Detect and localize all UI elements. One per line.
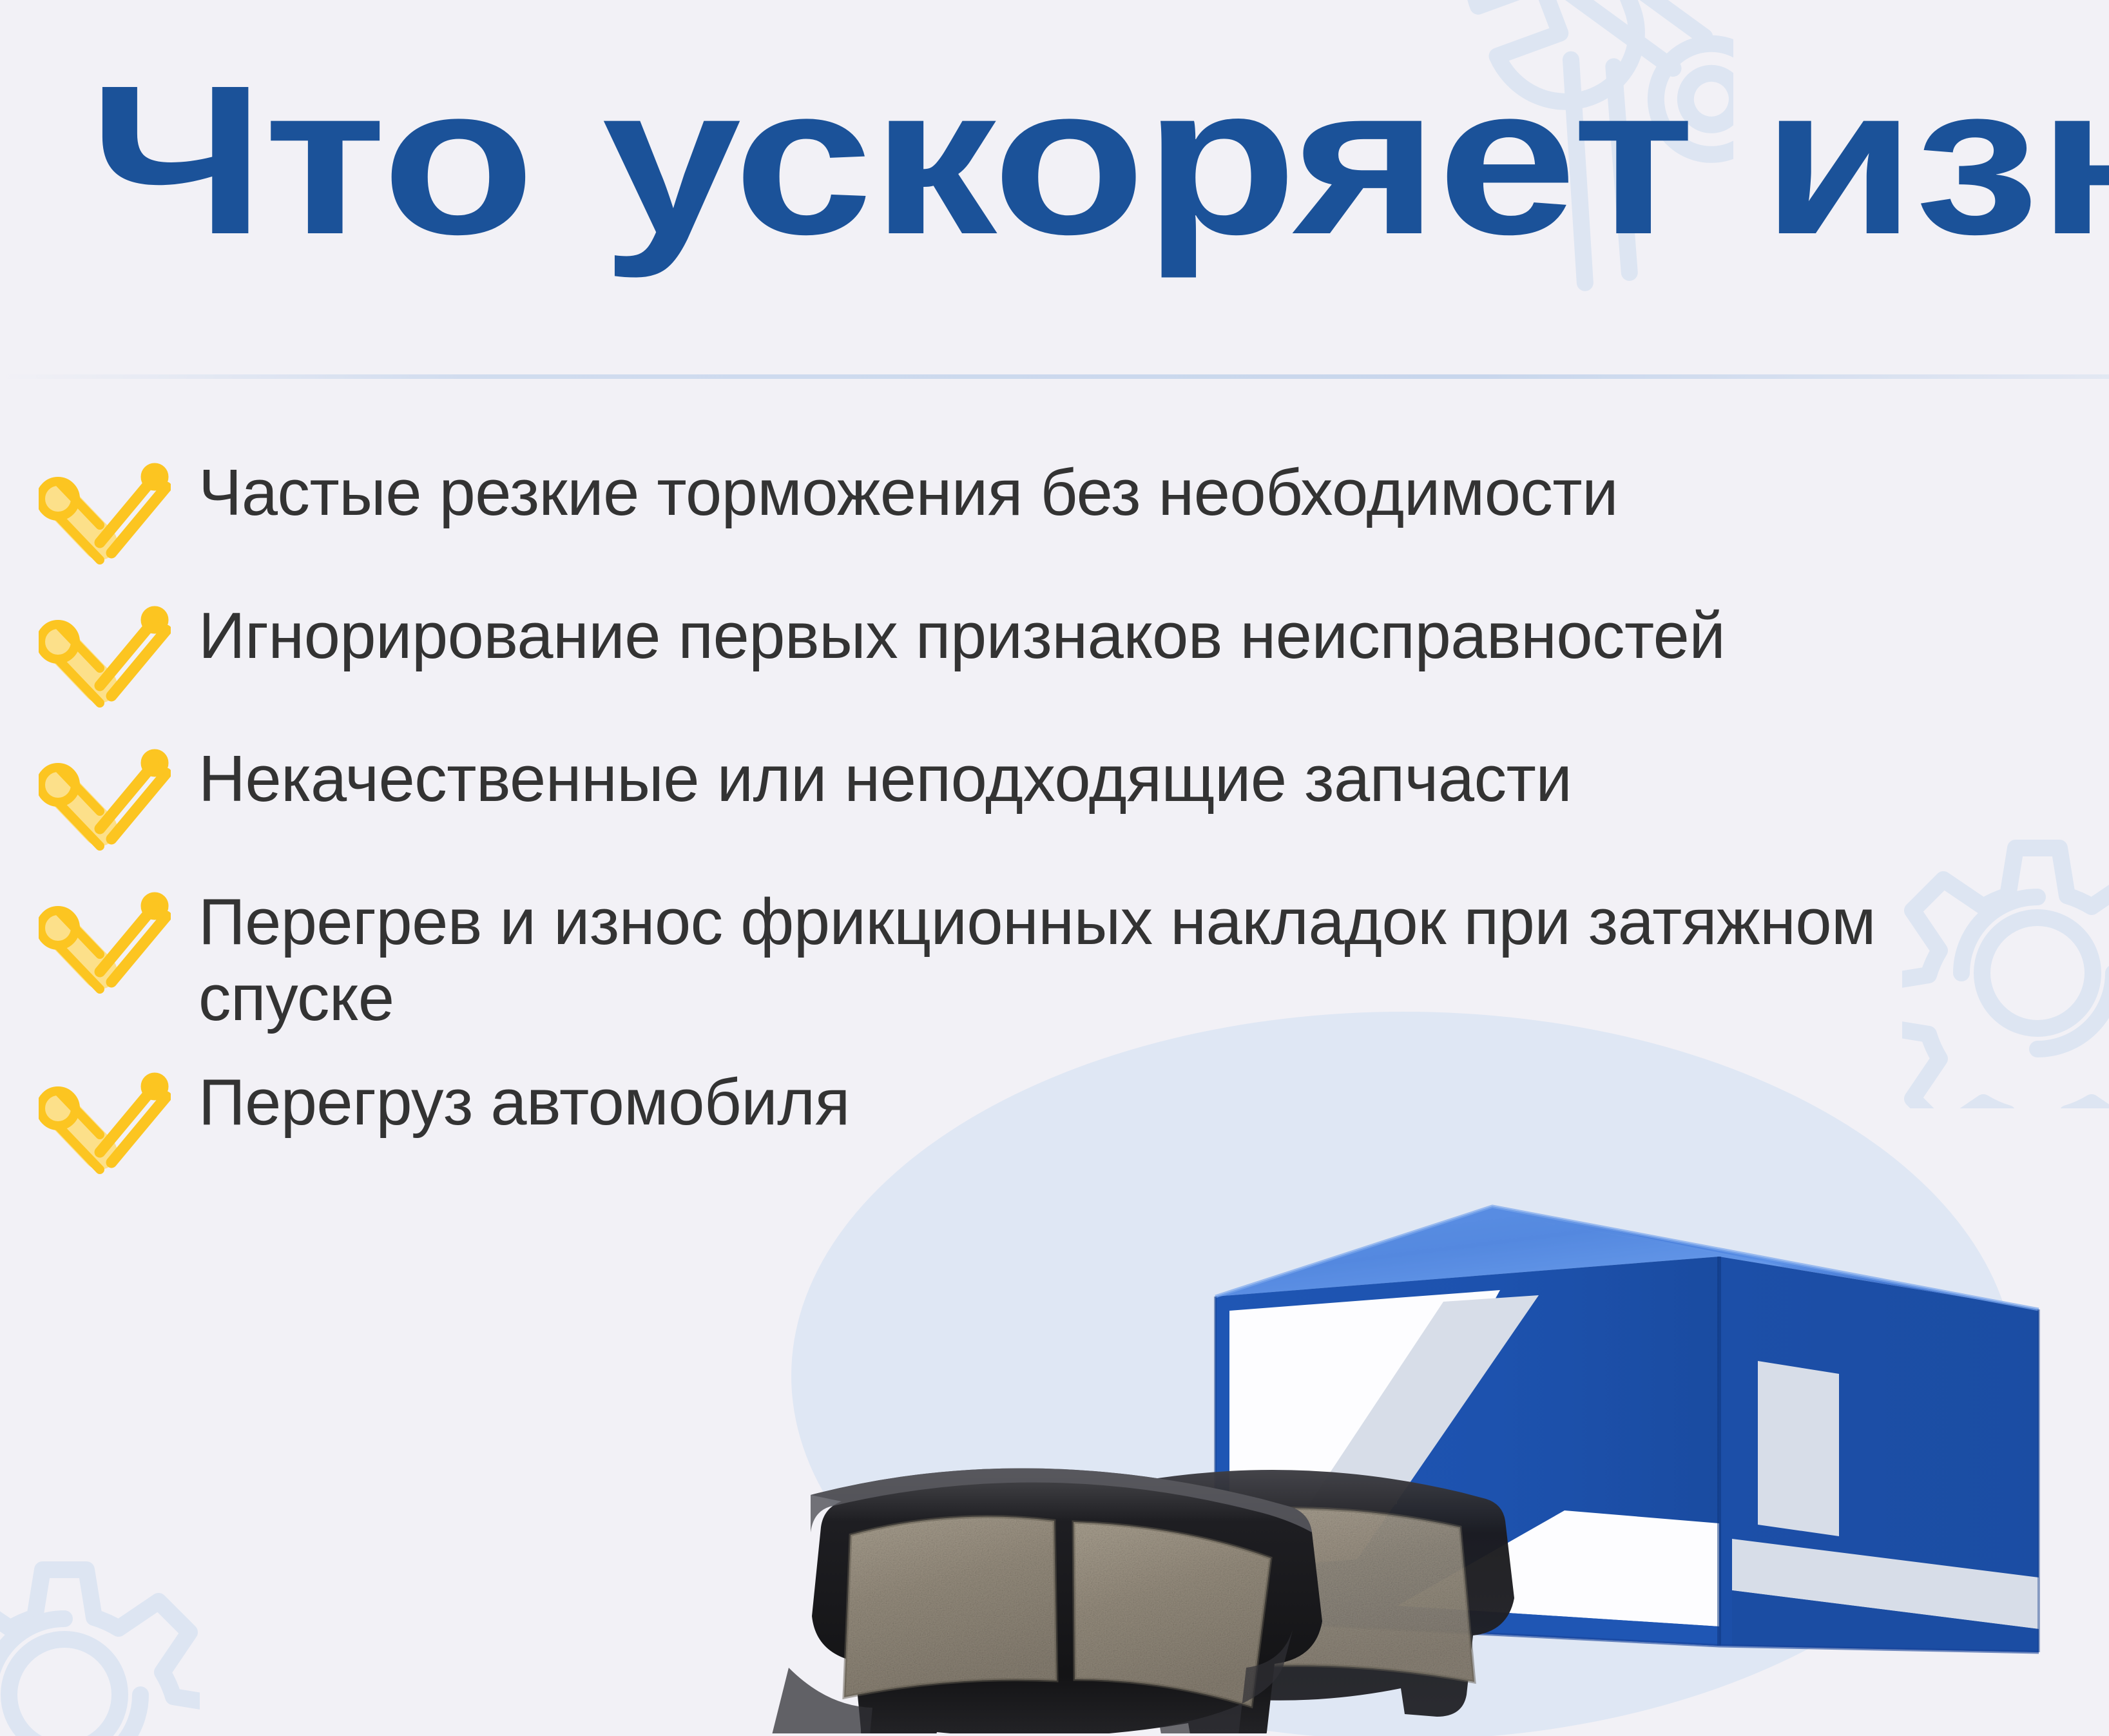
title-divider-line	[0, 374, 2109, 379]
list-item-label: Игнорирование первых признаков неисправн…	[198, 598, 2062, 674]
list-item-label: Перегруз автомобиля	[198, 1065, 2062, 1141]
wear-causes-list: Частые резкие торможения без необходимос…	[39, 455, 2062, 1179]
page-title: Что ускоряет износ?	[89, 57, 2109, 263]
list-item: Частые резкие торможения без необходимос…	[39, 455, 2062, 570]
infographic-poster: Что ускоряет износ?	[0, 0, 2109, 1736]
brake-pads-pair	[766, 1398, 1732, 1733]
list-item: Игнорирование первых признаков неисправн…	[39, 598, 2062, 713]
yellow-check-icon	[39, 598, 198, 713]
yellow-check-icon	[39, 741, 198, 856]
list-item: Некачественные или неподходящие запчасти	[39, 741, 2062, 856]
list-item-label: Перегрев и износ фрикционных накладок пр…	[198, 884, 2062, 1036]
yellow-check-icon	[39, 455, 198, 570]
list-item: Перегруз автомобиля	[39, 1065, 2062, 1179]
gear-watermark-bottom-left	[0, 1559, 200, 1736]
list-item-label: Частые резкие торможения без необходимос…	[198, 455, 2062, 531]
list-item: Перегрев и износ фрикционных накладок пр…	[39, 884, 2062, 1036]
yellow-check-icon	[39, 884, 198, 999]
yellow-check-icon	[39, 1065, 198, 1179]
list-item-label: Некачественные или неподходящие запчасти	[198, 741, 2062, 817]
